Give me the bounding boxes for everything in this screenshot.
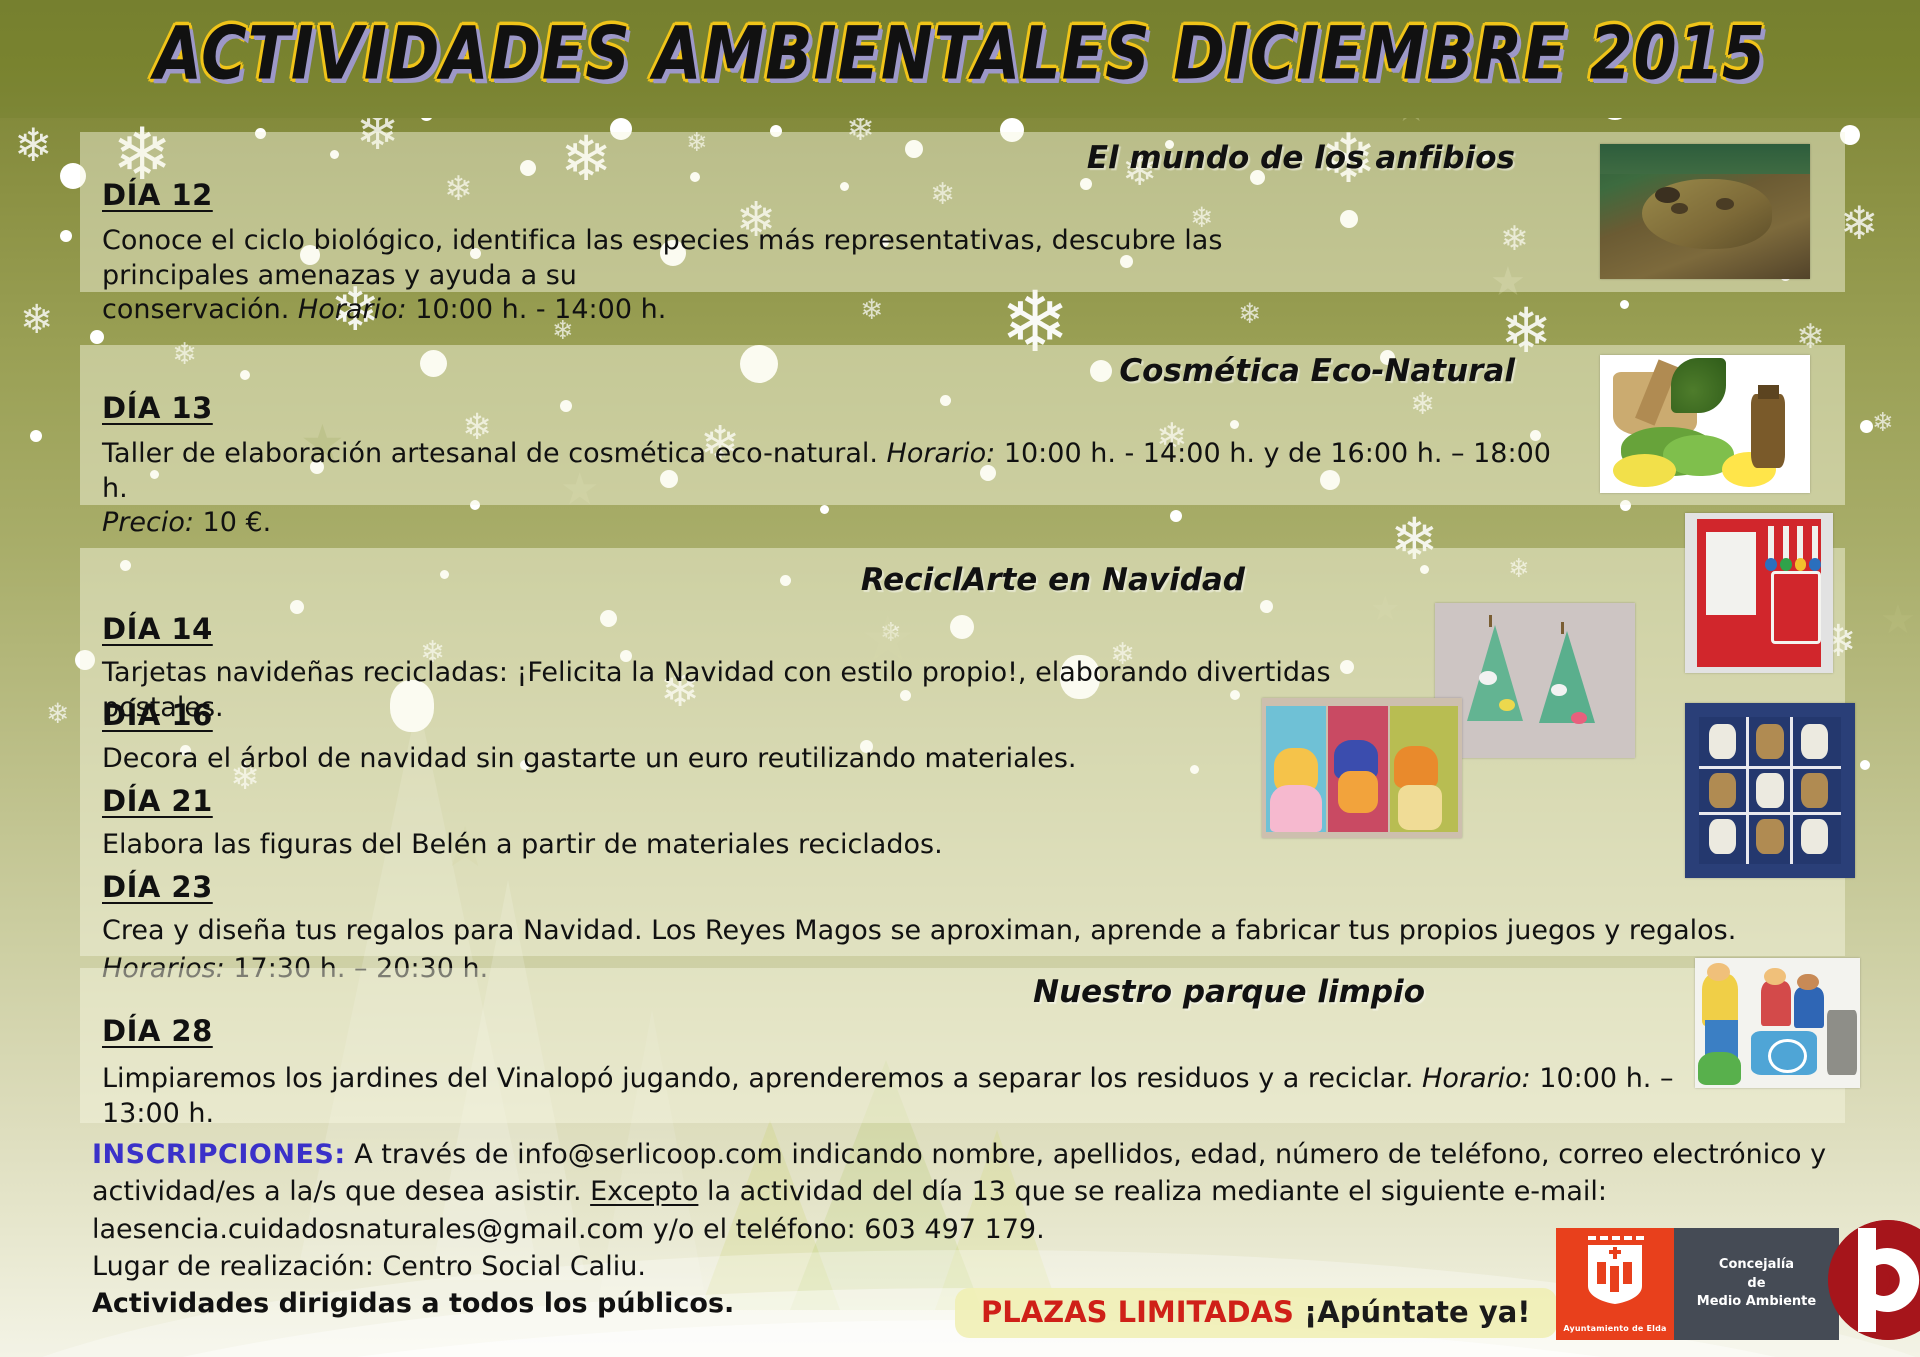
activity-day-label: DÍA 12	[102, 178, 213, 212]
activity-body-line: Decora el árbol de navidad sin gastarte …	[102, 742, 1422, 777]
horario-label: Horario:	[887, 438, 996, 469]
plazas-limitadas-banner: PLAZAS LIMITADAS ¡Apúntate ya!	[955, 1288, 1557, 1338]
activity-panel-anfibios: El mundo de los anfibios DÍA 12 Conoce e…	[80, 132, 1845, 292]
activity-body-text: conservación.	[102, 294, 298, 325]
activity-body-line: Crea y diseña tus regalos para Navidad. …	[102, 914, 1752, 949]
precio-label: Precio:	[102, 507, 194, 538]
activity-panel-cosmetica: Cosmética Eco-Natural DÍA 13 Taller de e…	[80, 345, 1845, 505]
activity-day-label: DÍA 23	[102, 870, 213, 904]
cosmetics-photo	[1600, 355, 1810, 493]
concejalia-medio-ambiente-logo: Concejalía de Medio Ambiente	[1674, 1228, 1839, 1340]
plazas-cta: ¡Apúntate ya!	[1294, 1295, 1531, 1329]
activity-title: El mundo de los anfibios	[335, 140, 1515, 176]
activity-day-label: DÍA 16	[102, 698, 213, 732]
excepto-underline: Excepto	[590, 1176, 698, 1207]
activity-body-line: Tarjetas navideñas recicladas: ¡Felicita…	[102, 656, 1422, 725]
park-cleaning-photo	[1695, 958, 1860, 1088]
activity-day-label: DÍA 21	[102, 784, 213, 818]
nativity-figures-photo	[1262, 698, 1462, 838]
elda-coat-of-arms-icon	[1586, 1236, 1644, 1304]
activity-body-text: Taller de elaboración artesanal de cosmé…	[102, 438, 887, 469]
activity-panel-reciclarte: ReciclArte en Navidad DÍA 14 Tarjetas na…	[80, 548, 1845, 956]
tic-tac-toe-photo	[1685, 703, 1855, 878]
activity-body-line: Conoce el ciclo biológico, identifica la…	[102, 224, 1332, 293]
plazas-highlight: PLAZAS LIMITADAS	[981, 1295, 1294, 1329]
reindeer-card-photo	[1685, 513, 1833, 673]
ayuntamiento-de-elda-logo: Ayuntamiento de Elda	[1556, 1228, 1674, 1340]
egg-carton-tree-photo	[1435, 603, 1635, 758]
toad-photo	[1600, 144, 1810, 279]
activity-panel-parque: Nuestro parque limpio DÍA 28 Limpiaremos…	[80, 968, 1845, 1123]
activity-body-text: Limpiaremos los jardines del Vinalopó ju…	[102, 1063, 1422, 1094]
activity-day-label: DÍA 13	[102, 391, 213, 425]
inscripciones-line-2: actividad/es a la/s que desea asistir. E…	[92, 1173, 1852, 1210]
concejalia-line-1: Concejalía	[1697, 1256, 1816, 1275]
elda-caption: Ayuntamiento de Elda	[1556, 1324, 1674, 1333]
activity-body-line: Elabora las figuras del Belén a partir d…	[102, 828, 1422, 863]
inscripciones-text-2a: actividad/es a la/s que desea asistir.	[92, 1176, 590, 1207]
inscripciones-line: INSCRIPCIONES: A través de info@serlicoo…	[92, 1136, 1852, 1173]
concejalia-line-3: Medio Ambiente	[1697, 1293, 1816, 1312]
inscripciones-text: A través de info@serlicoop.com indicando…	[346, 1139, 1827, 1170]
poster-canvas: ❄ ❄ ❄ ❄ ❄ ❄ ❄ ❄ ❄ ❄ ❄ ❄ ❄ ❄ ❄ ❄ ❄ ❄ ❄ ❄ …	[0, 0, 1920, 1357]
activity-body-line: Precio: 10 €.	[102, 506, 1562, 541]
page-title: ACTIVIDADES AMBIENTALES DICIEMBRE 2015	[0, 10, 1920, 96]
activity-title: Nuestro parque limpio	[245, 974, 1425, 1010]
inscripciones-text-2b: la actividad del día 13 que se realiza m…	[698, 1176, 1607, 1207]
horario-value: 10:00 h. - 14:00 h.	[407, 294, 667, 325]
activity-body-line: Limpiaremos los jardines del Vinalopó ju…	[102, 1062, 1722, 1131]
activity-title: ReciclArte en Navidad	[65, 562, 1245, 598]
horario-label: Horario:	[298, 294, 407, 325]
activity-title: Cosmética Eco-Natural	[335, 353, 1515, 389]
concejalia-line-2: de	[1697, 1275, 1816, 1294]
precio-value: 10 €.	[194, 507, 271, 538]
horario-label: Horario:	[1422, 1063, 1531, 1094]
activity-day-label: DÍA 28	[102, 1014, 213, 1048]
inscripciones-label: INSCRIPCIONES:	[92, 1139, 346, 1170]
activity-body-line: Taller de elaboración artesanal de cosmé…	[102, 437, 1562, 506]
activity-day-label: DÍA 14	[102, 612, 213, 646]
activity-body-line: conservación. Horario: 10:00 h. - 14:00 …	[102, 293, 1332, 328]
